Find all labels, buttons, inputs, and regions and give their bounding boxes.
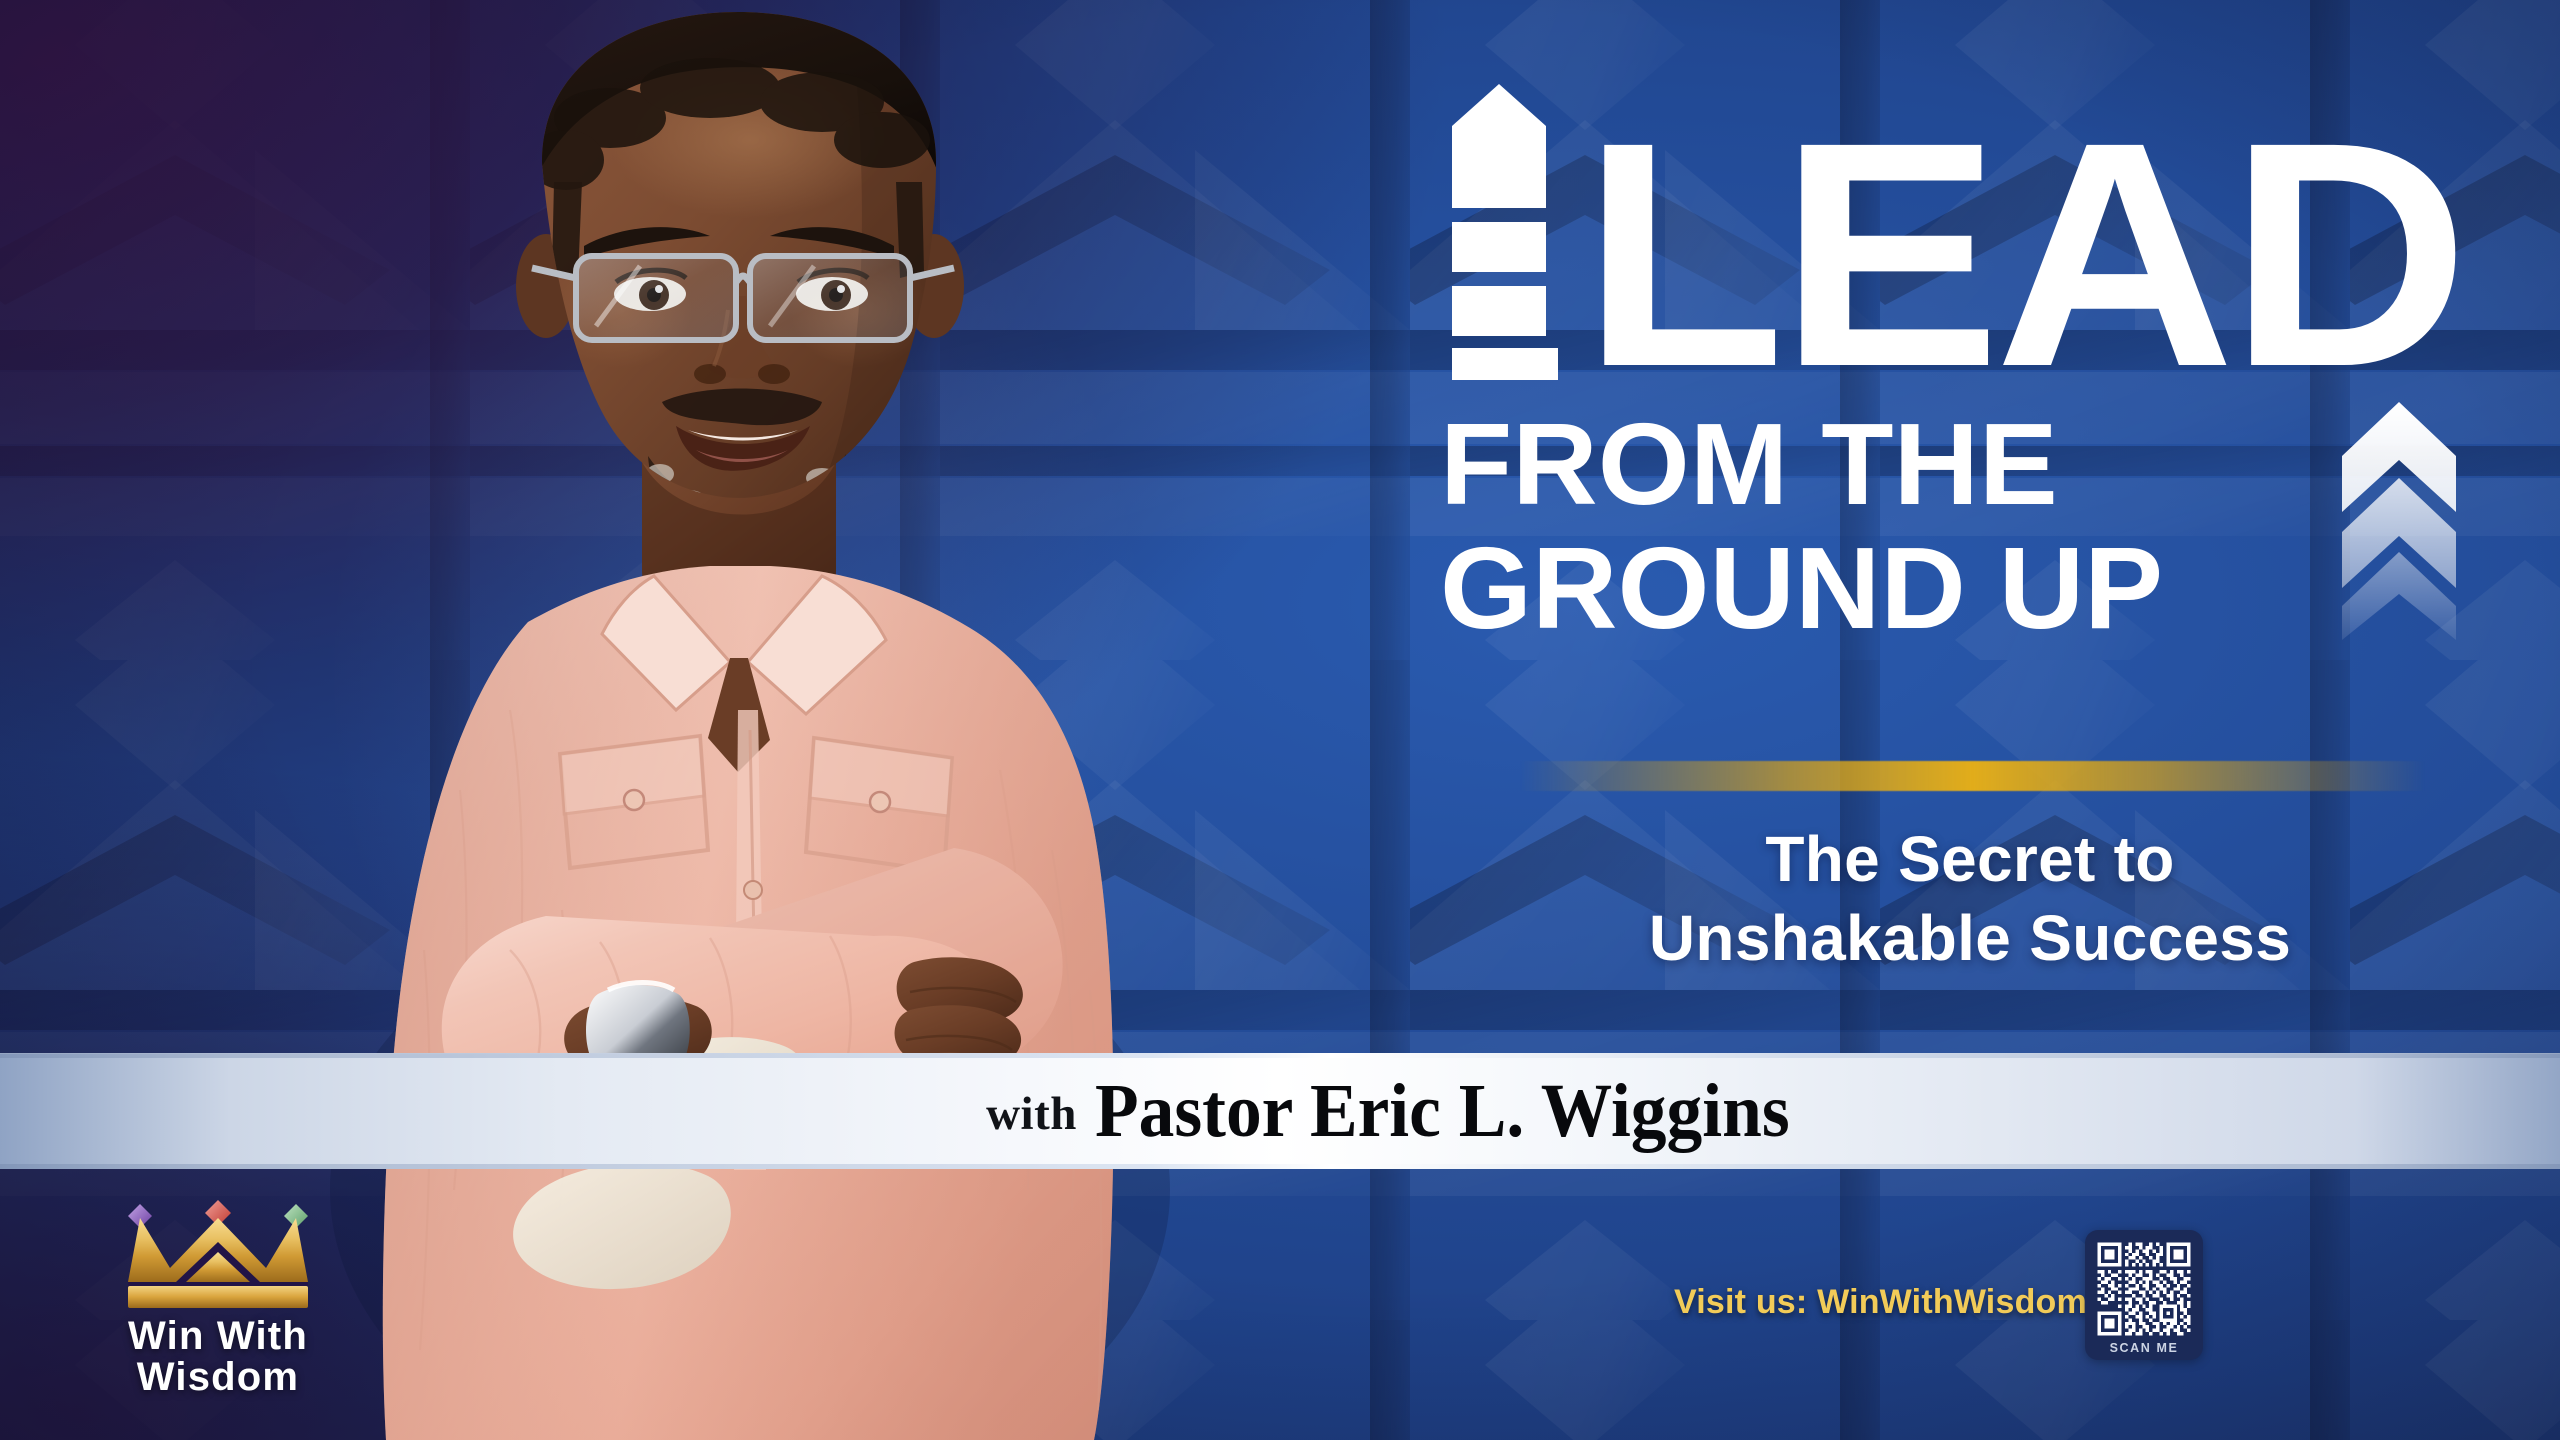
crown-icon <box>78 1198 358 1310</box>
speaker-name: Pastor Eric L. Wiggins <box>1095 1068 1790 1155</box>
lead-headline-row: LEAD <box>1440 70 2500 380</box>
logo-text: Win With Wisdom <box>78 1316 358 1398</box>
monument-icon <box>1440 80 1558 380</box>
speaker-photo <box>210 10 1280 1440</box>
logo-line-1: Win With <box>78 1316 358 1357</box>
chevron-up-stack-icon <box>2336 400 2462 642</box>
speaker-name-banner: with Pastor Eric L. Wiggins <box>0 1053 2560 1169</box>
win-with-wisdom-logo: Win With Wisdom <box>78 1198 358 1398</box>
gold-divider <box>1520 761 2425 791</box>
promo-poster: LEAD FROM THE GROUND UP <box>0 0 2560 1440</box>
headline-lead: LEAD <box>1582 130 2463 380</box>
qr-scan-label: SCAN ME <box>2094 1341 2194 1355</box>
qr-code-icon[interactable]: SCAN ME <box>2085 1230 2203 1360</box>
subtitle-line-1: The Secret to <box>1440 820 2500 899</box>
visit-url-text[interactable]: Visit us: WinWithWisdom.org <box>1674 1283 2152 1322</box>
speaker-prefix: with <box>986 1087 1077 1141</box>
headline-sublines: FROM THE GROUND UP <box>1440 406 2500 646</box>
logo-line-2: Wisdom <box>78 1357 358 1398</box>
subtitle-line-2: Unshakable Success <box>1440 899 2500 978</box>
subtitle: The Secret to Unshakable Success <box>1440 820 2500 979</box>
title-block: LEAD FROM THE GROUND UP <box>1440 70 2500 646</box>
